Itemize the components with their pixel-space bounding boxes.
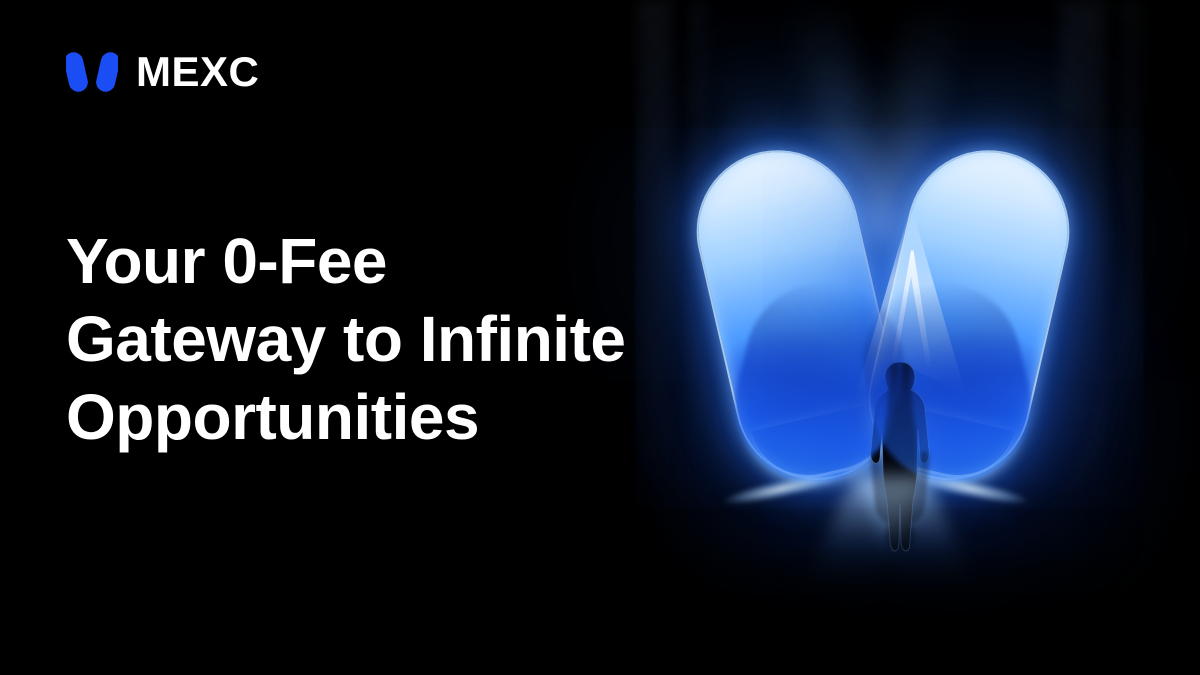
headline-line-3: Opportunities — [66, 378, 666, 456]
headline-line-2: Gateway to Infinite — [66, 300, 666, 378]
mexc-m-lozenge-logo-icon — [66, 50, 118, 94]
headline: Your 0-Fee Gateway to Infinite Opportuni… — [66, 222, 666, 456]
person-reflection-shape — [860, 356, 940, 556]
banner-canvas: MEXC Your 0-Fee Gateway to Infinite Oppo… — [0, 0, 1200, 675]
brand-wordmark: MEXC — [136, 51, 259, 93]
floor-fade-to-black — [560, 545, 1200, 675]
brand-lockup[interactable]: MEXC — [66, 50, 259, 94]
headline-line-1: Your 0-Fee — [66, 222, 666, 300]
